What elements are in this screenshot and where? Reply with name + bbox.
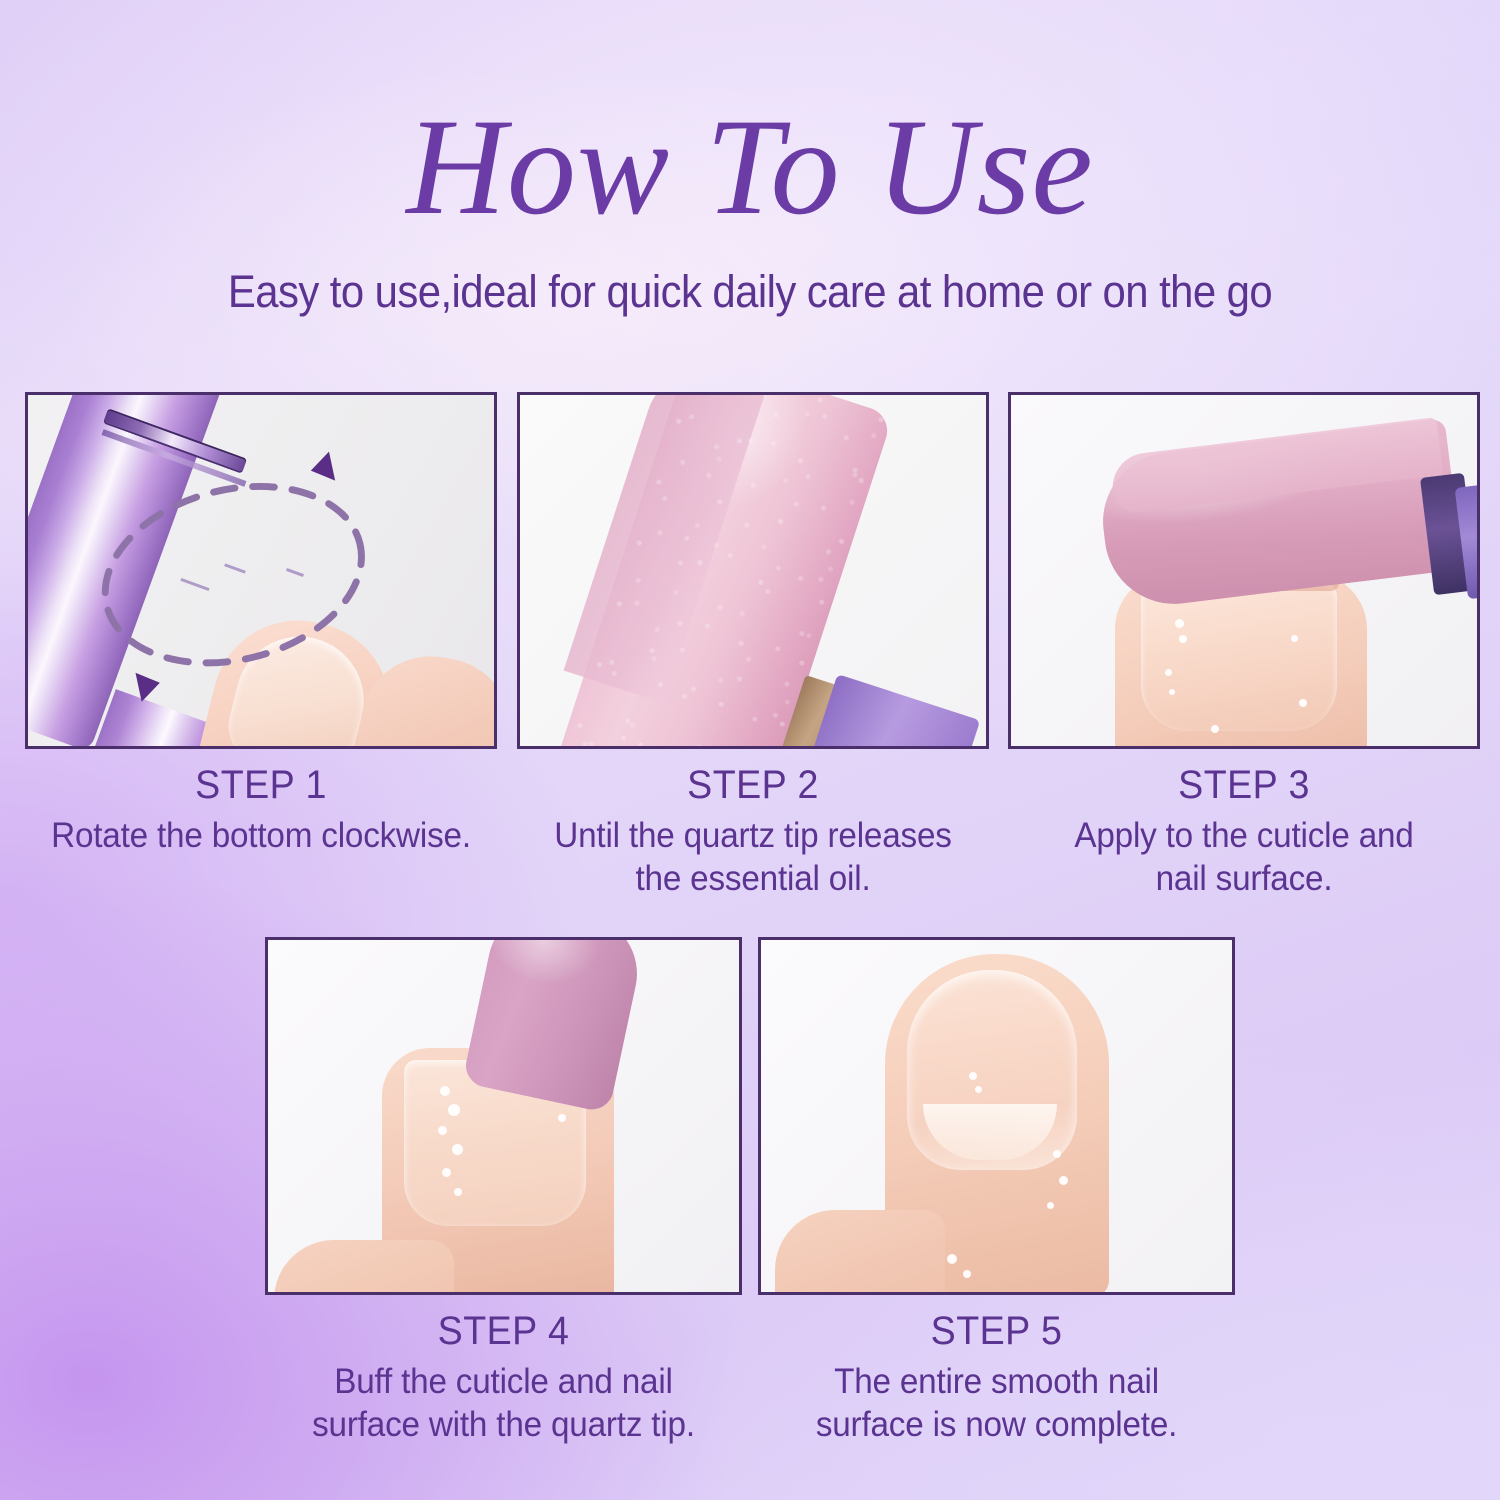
oil-droplet <box>963 1270 971 1278</box>
oil-droplet <box>947 1254 957 1264</box>
step-3-description-line-1: Apply to the cuticle and <box>1074 816 1413 855</box>
step-2-description-line-1: Until the quartz tip releases <box>554 816 951 855</box>
step-3-label: STEP 3 <box>1022 763 1466 808</box>
oil-droplet <box>448 1104 460 1116</box>
step-3-photo <box>1008 392 1480 749</box>
step-1-description: Rotate the bottom clockwise. <box>37 815 485 858</box>
apply-to-cuticle-illustration <box>1011 395 1477 746</box>
rotation-arrowhead-bottom <box>135 668 162 701</box>
step-4-caption: STEP 4 Buff the cuticle and nail surface… <box>265 1295 742 1446</box>
step-5-description-line-1: The entire smooth nail <box>834 1362 1159 1401</box>
oil-droplet <box>1179 635 1187 643</box>
step-4-description-line-2: surface with the quartz tip. <box>312 1405 695 1444</box>
step-5-description-line-2: surface is now complete. <box>816 1405 1177 1444</box>
adjacent-finger <box>775 1210 945 1295</box>
oil-droplet <box>1175 619 1184 628</box>
adjacent-finger <box>274 1240 454 1295</box>
pen-rotation-illustration <box>28 395 494 746</box>
step-5-photo <box>758 937 1235 1295</box>
step-5-label: STEP 5 <box>772 1309 1220 1354</box>
steps-row-top: STEP 1 Rotate the bottom clockwise. STEP… <box>25 392 1480 900</box>
oil-droplet <box>440 1086 450 1096</box>
how-to-use-page: How To Use Easy to use,ideal for quick d… <box>0 0 1500 1500</box>
step-card-5: STEP 5 The entire smooth nail surface is… <box>758 937 1235 1446</box>
buffing-illustration <box>268 940 739 1292</box>
oil-droplet <box>1211 725 1219 733</box>
step-card-1: STEP 1 Rotate the bottom clockwise. <box>25 392 497 900</box>
step-3-description: Apply to the cuticle and nail surface. <box>1020 815 1468 900</box>
oil-droplet <box>1165 669 1172 676</box>
step-card-4: STEP 4 Buff the cuticle and nail surface… <box>265 937 742 1446</box>
oil-droplet <box>1299 699 1307 707</box>
step-4-photo <box>265 937 742 1295</box>
oil-droplet <box>438 1126 447 1135</box>
finger-finished-nail <box>885 954 1109 1295</box>
step-5-description: The entire smooth nail surface is now co… <box>770 1361 1223 1446</box>
oil-droplet <box>454 1188 462 1196</box>
oil-droplet <box>1053 1150 1061 1158</box>
oil-droplet <box>1169 689 1175 695</box>
step-2-label: STEP 2 <box>531 763 975 808</box>
oil-droplet <box>1291 635 1298 642</box>
oil-droplet <box>558 1114 566 1122</box>
step-1-photo <box>25 392 497 749</box>
step-3-caption: STEP 3 Apply to the cuticle and nail sur… <box>1008 749 1480 900</box>
step-card-3: STEP 3 Apply to the cuticle and nail sur… <box>1008 392 1480 900</box>
oil-droplet <box>1047 1202 1054 1209</box>
step-2-photo <box>517 392 989 749</box>
rotation-dashed-ellipse <box>86 461 380 689</box>
page-title: How To Use <box>0 98 1500 236</box>
oil-droplet <box>1059 1176 1068 1185</box>
step-2-description-line-2: the essential oil. <box>635 859 870 898</box>
step-2-description: Until the quartz tip releases the essent… <box>528 815 976 900</box>
oil-droplet <box>969 1072 977 1080</box>
quartz-tip-closeup-illustration <box>520 395 986 746</box>
rotation-arrowhead-top <box>308 452 335 485</box>
oil-droplet <box>975 1086 982 1093</box>
step-4-description-line-1: Buff the cuticle and nail <box>334 1362 672 1401</box>
rotation-arrow-overlay <box>28 395 494 747</box>
step-card-2: STEP 2 Until the quartz tip releases the… <box>517 392 989 900</box>
oil-droplet <box>442 1168 451 1177</box>
oil-droplet <box>452 1144 463 1155</box>
step-1-label: STEP 1 <box>39 763 483 808</box>
step-3-description-line-2: nail surface. <box>1156 859 1333 898</box>
step-4-description: Buff the cuticle and nail surface with t… <box>277 1361 730 1446</box>
step-1-caption: STEP 1 Rotate the bottom clockwise. <box>25 749 497 858</box>
finished-nail-illustration <box>761 940 1232 1292</box>
step-4-label: STEP 4 <box>279 1309 727 1354</box>
page-subtitle: Easy to use,ideal for quick daily care a… <box>53 266 1448 318</box>
steps-row-bottom: STEP 4 Buff the cuticle and nail surface… <box>265 937 1235 1446</box>
step-5-caption: STEP 5 The entire smooth nail surface is… <box>758 1295 1235 1446</box>
step-2-caption: STEP 2 Until the quartz tip releases the… <box>517 749 989 900</box>
page-header: How To Use Easy to use,ideal for quick d… <box>0 0 1500 318</box>
